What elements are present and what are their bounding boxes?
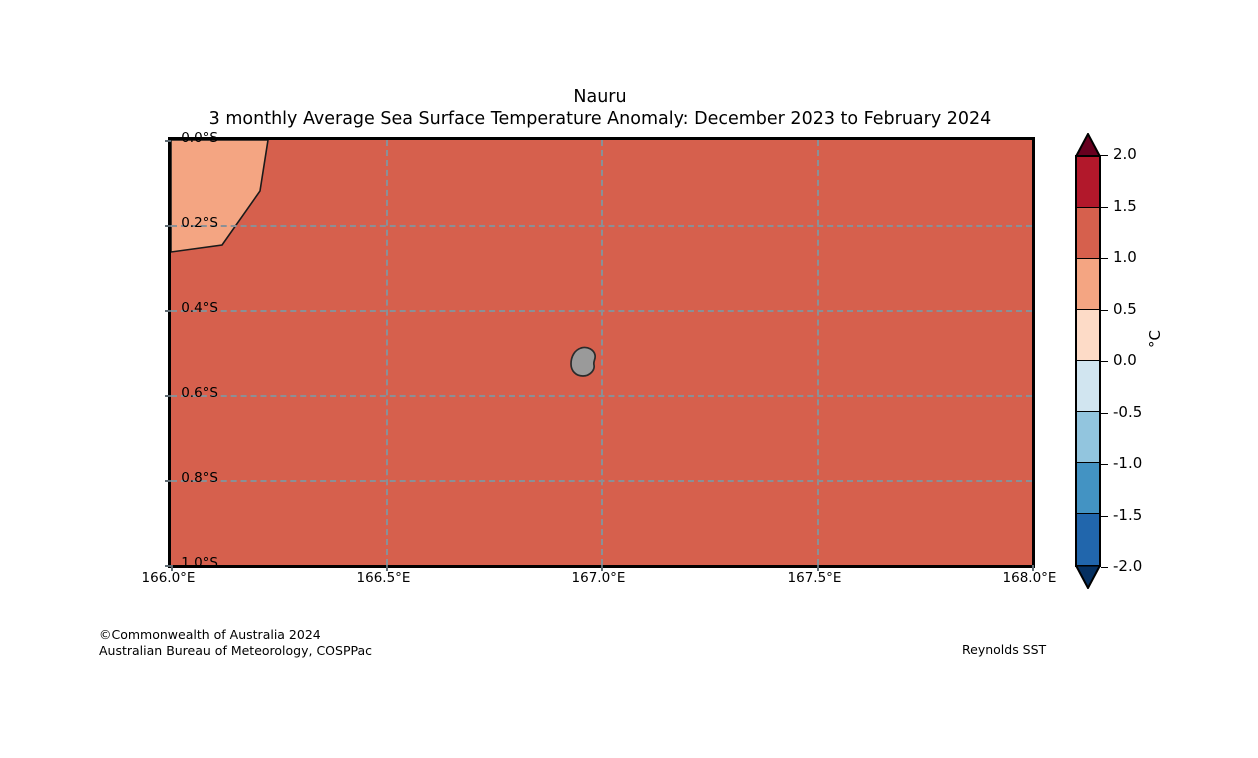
ytick-0p4 xyxy=(165,310,171,312)
ytick-0p8 xyxy=(165,480,171,482)
xtick-label-166p5: 166.5°E xyxy=(331,570,436,586)
colorbar-label-neg1p0: -1.0 xyxy=(1113,454,1142,472)
colorbar-tick-1p0 xyxy=(1101,258,1108,259)
colorbar-under-arrow xyxy=(1075,565,1101,589)
colorbar-over-arrow xyxy=(1075,133,1101,157)
nauru-island-shape xyxy=(567,346,603,380)
colorbar-label-2p0: 2.0 xyxy=(1113,145,1137,163)
ytick-label-1p0: 1.0°S xyxy=(181,555,218,571)
colorbar-band-neg1p5-to-neg1p0 xyxy=(1077,463,1099,514)
ytick-0p0 xyxy=(165,140,171,142)
footer-credits: ©Commonwealth of Australia 2024 Australi… xyxy=(99,627,372,658)
colorbar-label-0p5: 0.5 xyxy=(1113,300,1137,318)
colorbar-tick-neg2p0 xyxy=(1101,567,1108,568)
colorbar-tick-0p0 xyxy=(1101,361,1108,362)
colorbar-label-1p5: 1.5 xyxy=(1113,197,1137,215)
page-title: Nauru xyxy=(0,87,1200,108)
colorbar-band-0p5-to-1p0 xyxy=(1077,259,1099,310)
colorbar-band-neg0p5-to-0p0 xyxy=(1077,361,1099,412)
figure-canvas: Nauru 3 monthly Average Sea Surface Temp… xyxy=(0,0,1258,758)
map-plot-area xyxy=(168,137,1035,568)
chart-subtitle: 3 monthly Average Sea Surface Temperatur… xyxy=(0,108,1200,130)
gridline-lon-167p5 xyxy=(817,140,819,565)
colorbar-band-neg2p0-to-neg1p5 xyxy=(1077,514,1099,565)
xtick-label-168p0: 168.0°E xyxy=(977,570,1082,586)
colorbar-unit-label: °C xyxy=(1146,330,1164,348)
colorbar-tick-neg1p0 xyxy=(1101,464,1108,465)
colorbar-tick-1p5 xyxy=(1101,207,1108,208)
ytick-label-0p8: 0.8°S xyxy=(181,470,218,486)
colorbar-tick-neg1p5 xyxy=(1101,516,1108,517)
colorbar-label-neg2p0: -2.0 xyxy=(1113,557,1142,575)
colorbar-band-1p0-to-1p5 xyxy=(1077,208,1099,259)
colorbar-tick-0p5 xyxy=(1101,310,1108,311)
colorbar-label-neg0p5: -0.5 xyxy=(1113,403,1142,421)
colorbar-bands xyxy=(1075,155,1101,567)
map-clip-region xyxy=(171,140,1032,565)
footer-dataset: Reynolds SST xyxy=(962,642,1046,657)
colorbar-label-1p0: 1.0 xyxy=(1113,248,1137,266)
colorbar-tick-2p0 xyxy=(1101,155,1108,156)
colorbar-band-neg1p0-to-neg0p5 xyxy=(1077,412,1099,463)
ytick-label-0p6: 0.6°S xyxy=(181,385,218,401)
xtick-label-166p0: 166.0°E xyxy=(116,570,221,586)
colorbar-label-0p0: 0.0 xyxy=(1113,351,1137,369)
colorbar-label-neg1p5: -1.5 xyxy=(1113,506,1142,524)
ytick-label-0p4: 0.4°S xyxy=(181,300,218,316)
footer-agency: Australian Bureau of Meteorology, COSPPa… xyxy=(99,643,372,659)
footer-copyright: ©Commonwealth of Australia 2024 xyxy=(99,627,372,643)
ytick-0p2 xyxy=(165,225,171,227)
colorbar-tick-neg0p5 xyxy=(1101,413,1108,414)
xtick-label-167p5: 167.5°E xyxy=(762,570,867,586)
ytick-label-0p0: 0.0°S xyxy=(181,130,218,146)
colorbar-band-1p5-to-2p0 xyxy=(1077,157,1099,208)
ytick-0p6 xyxy=(165,395,171,397)
colorbar-band-0p0-to-0p5 xyxy=(1077,310,1099,361)
gridline-lon-166p5 xyxy=(386,140,388,565)
xtick-label-167p0: 167.0°E xyxy=(546,570,651,586)
ytick-label-0p2: 0.2°S xyxy=(181,215,218,231)
